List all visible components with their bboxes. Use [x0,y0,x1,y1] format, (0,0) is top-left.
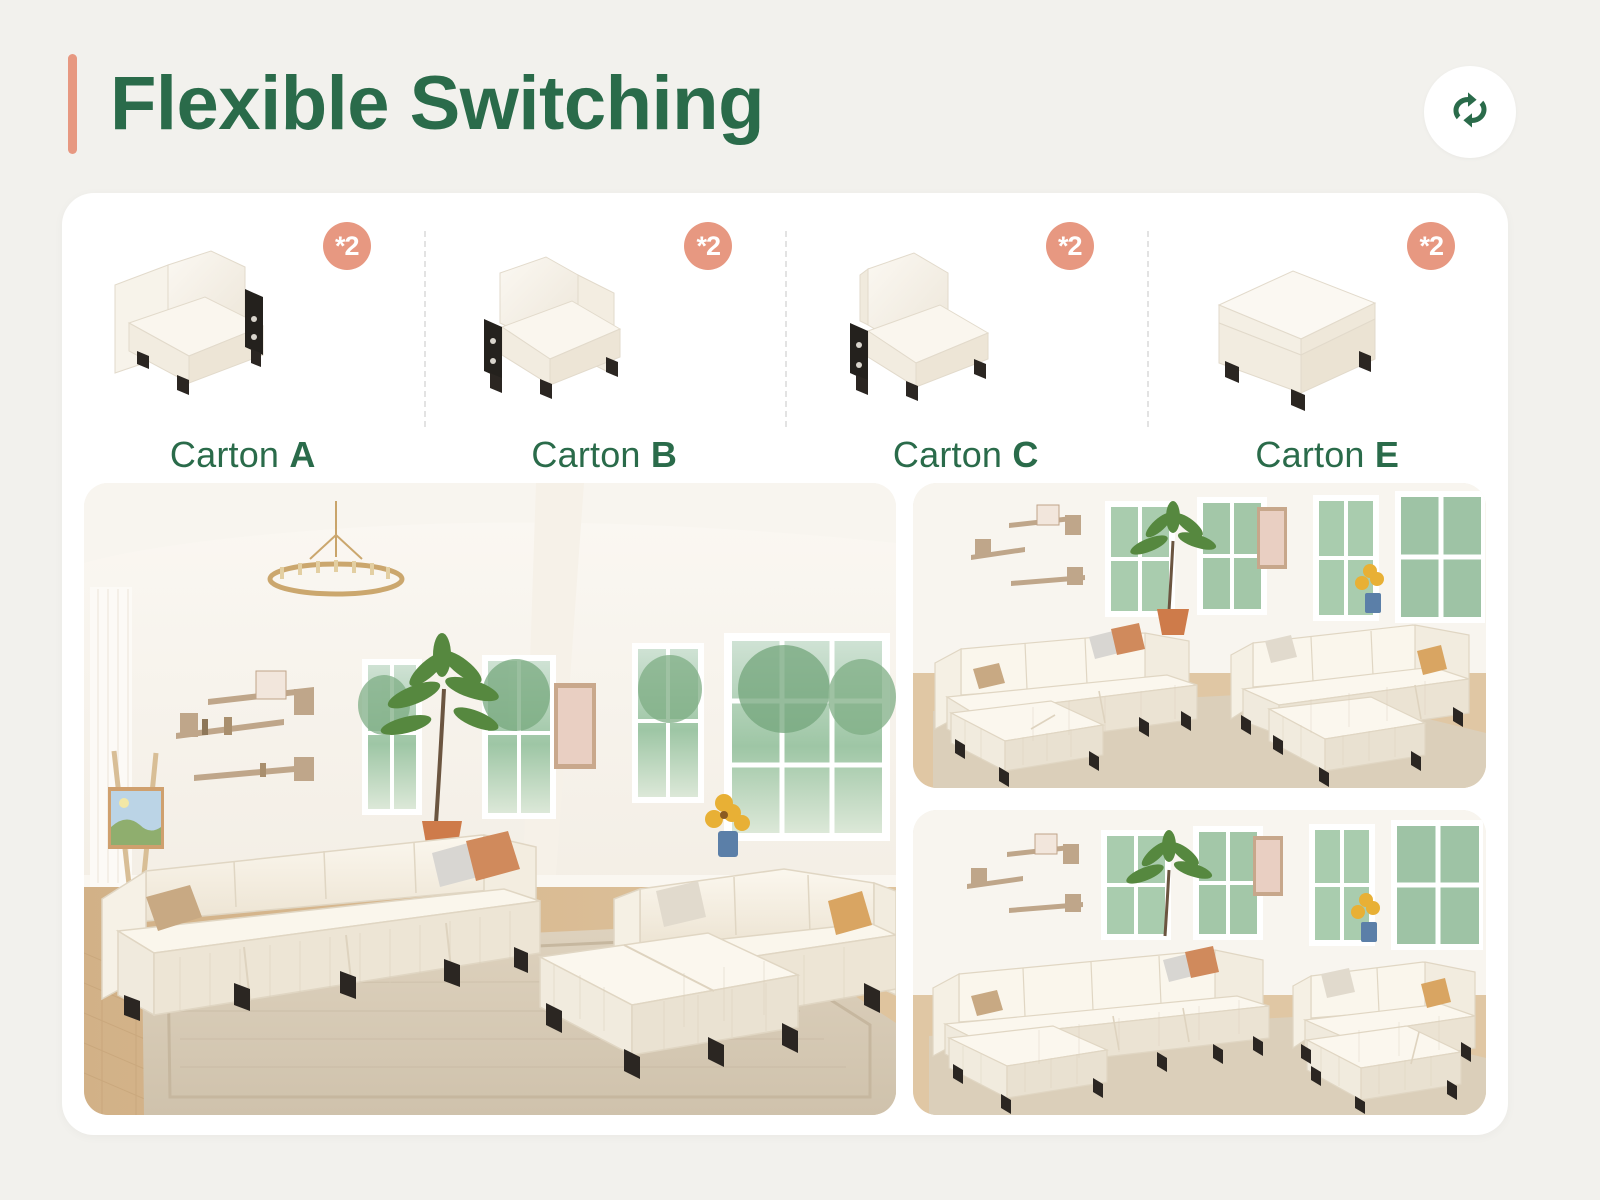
carton-c-figure: *2 [816,227,1116,422]
carton-item-c[interactable]: *2 Carton C [785,193,1147,483]
page-root: Flexible Switching [0,0,1600,1200]
refresh-swap-icon [1444,84,1496,141]
carton-c-label-prefix: Carton [893,434,1012,475]
carton-e-label: Carton E [1255,434,1399,476]
carton-item-e[interactable]: *2 Carton E [1147,193,1509,483]
carton-e-label-letter: E [1375,434,1399,475]
carton-e-quantity-badge: *2 [1407,222,1455,270]
page-title: Flexible Switching [110,44,764,164]
carton-a-label: Carton A [170,434,316,476]
carton-c-label-letter: C [1012,434,1038,475]
carton-item-b[interactable]: *2 Carton B [424,193,786,483]
carton-e-figure: *2 [1177,227,1477,422]
carton-a-label-letter: A [289,434,315,475]
carton-c-quantity-badge: *2 [1046,222,1094,270]
room-photo-bottom-right[interactable] [913,810,1486,1115]
room-photo-main[interactable] [84,483,896,1115]
carton-b-label: Carton B [531,434,677,476]
carton-a-figure: *2 [93,227,393,422]
title-accent-bar [68,54,77,154]
carton-item-a[interactable]: *2 Carton A [62,193,424,483]
carton-b-quantity-badge: *2 [684,222,732,270]
carton-c-label: Carton C [893,434,1039,476]
page-header: Flexible Switching [0,0,1600,193]
photo-grid [84,483,1486,1115]
carton-list: *2 Carton A [62,193,1508,483]
content-card: *2 Carton A [62,193,1508,1135]
carton-b-label-prefix: Carton [531,434,650,475]
carton-e-label-prefix: Carton [1255,434,1374,475]
carton-b-label-letter: B [651,434,677,475]
carton-b-figure: *2 [454,227,754,422]
carton-a-label-prefix: Carton [170,434,289,475]
carton-a-quantity-badge: *2 [323,222,371,270]
refresh-swap-badge[interactable] [1424,66,1516,158]
room-photo-top-right[interactable] [913,483,1486,788]
